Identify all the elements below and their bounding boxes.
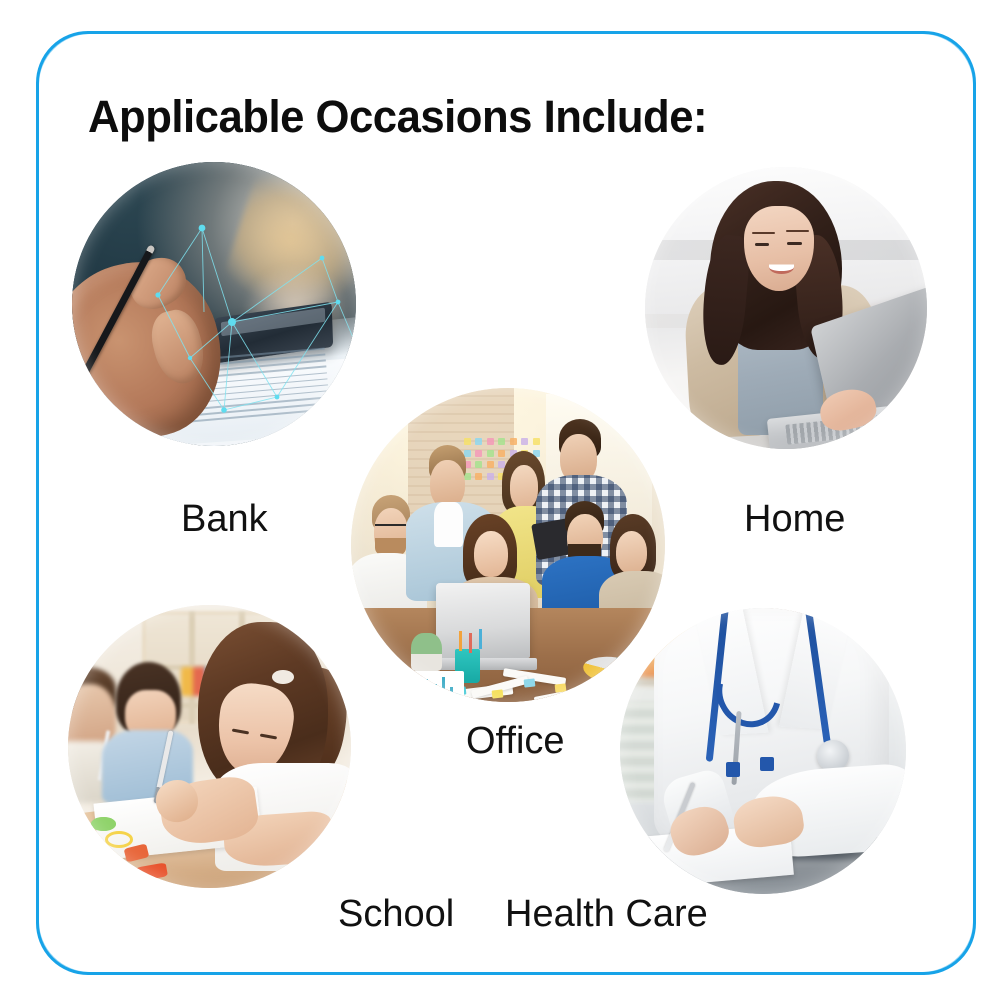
network-overlay-icon bbox=[72, 162, 356, 446]
occasion-image-school bbox=[68, 605, 351, 888]
occasion-label-bank: Bank bbox=[181, 498, 268, 540]
bank-scene bbox=[72, 162, 356, 446]
home-brow-left bbox=[752, 232, 775, 234]
occasion-image-office bbox=[351, 388, 665, 702]
occasion-label-health-care: Health Care bbox=[505, 893, 708, 935]
stethoscope-clip-1 bbox=[726, 762, 740, 776]
occasion-label-office: Office bbox=[466, 720, 565, 762]
occasion-image-bank bbox=[72, 162, 356, 446]
occasion-label-school: School bbox=[338, 893, 454, 935]
office-bar-chart-printout bbox=[395, 671, 464, 699]
office-scene bbox=[351, 388, 665, 702]
occasion-image-health-care bbox=[620, 608, 906, 894]
occasion-label-home: Home bbox=[744, 498, 845, 540]
school-scene bbox=[68, 605, 351, 888]
occasion-image-home bbox=[645, 167, 927, 449]
home-eye-left bbox=[755, 243, 769, 246]
page-title: Applicable Occasions Include: bbox=[88, 92, 707, 142]
home-eye-right bbox=[787, 242, 801, 245]
health-care-scene bbox=[620, 608, 906, 894]
home-scene bbox=[645, 167, 927, 449]
stethoscope-clip-2 bbox=[760, 757, 774, 771]
